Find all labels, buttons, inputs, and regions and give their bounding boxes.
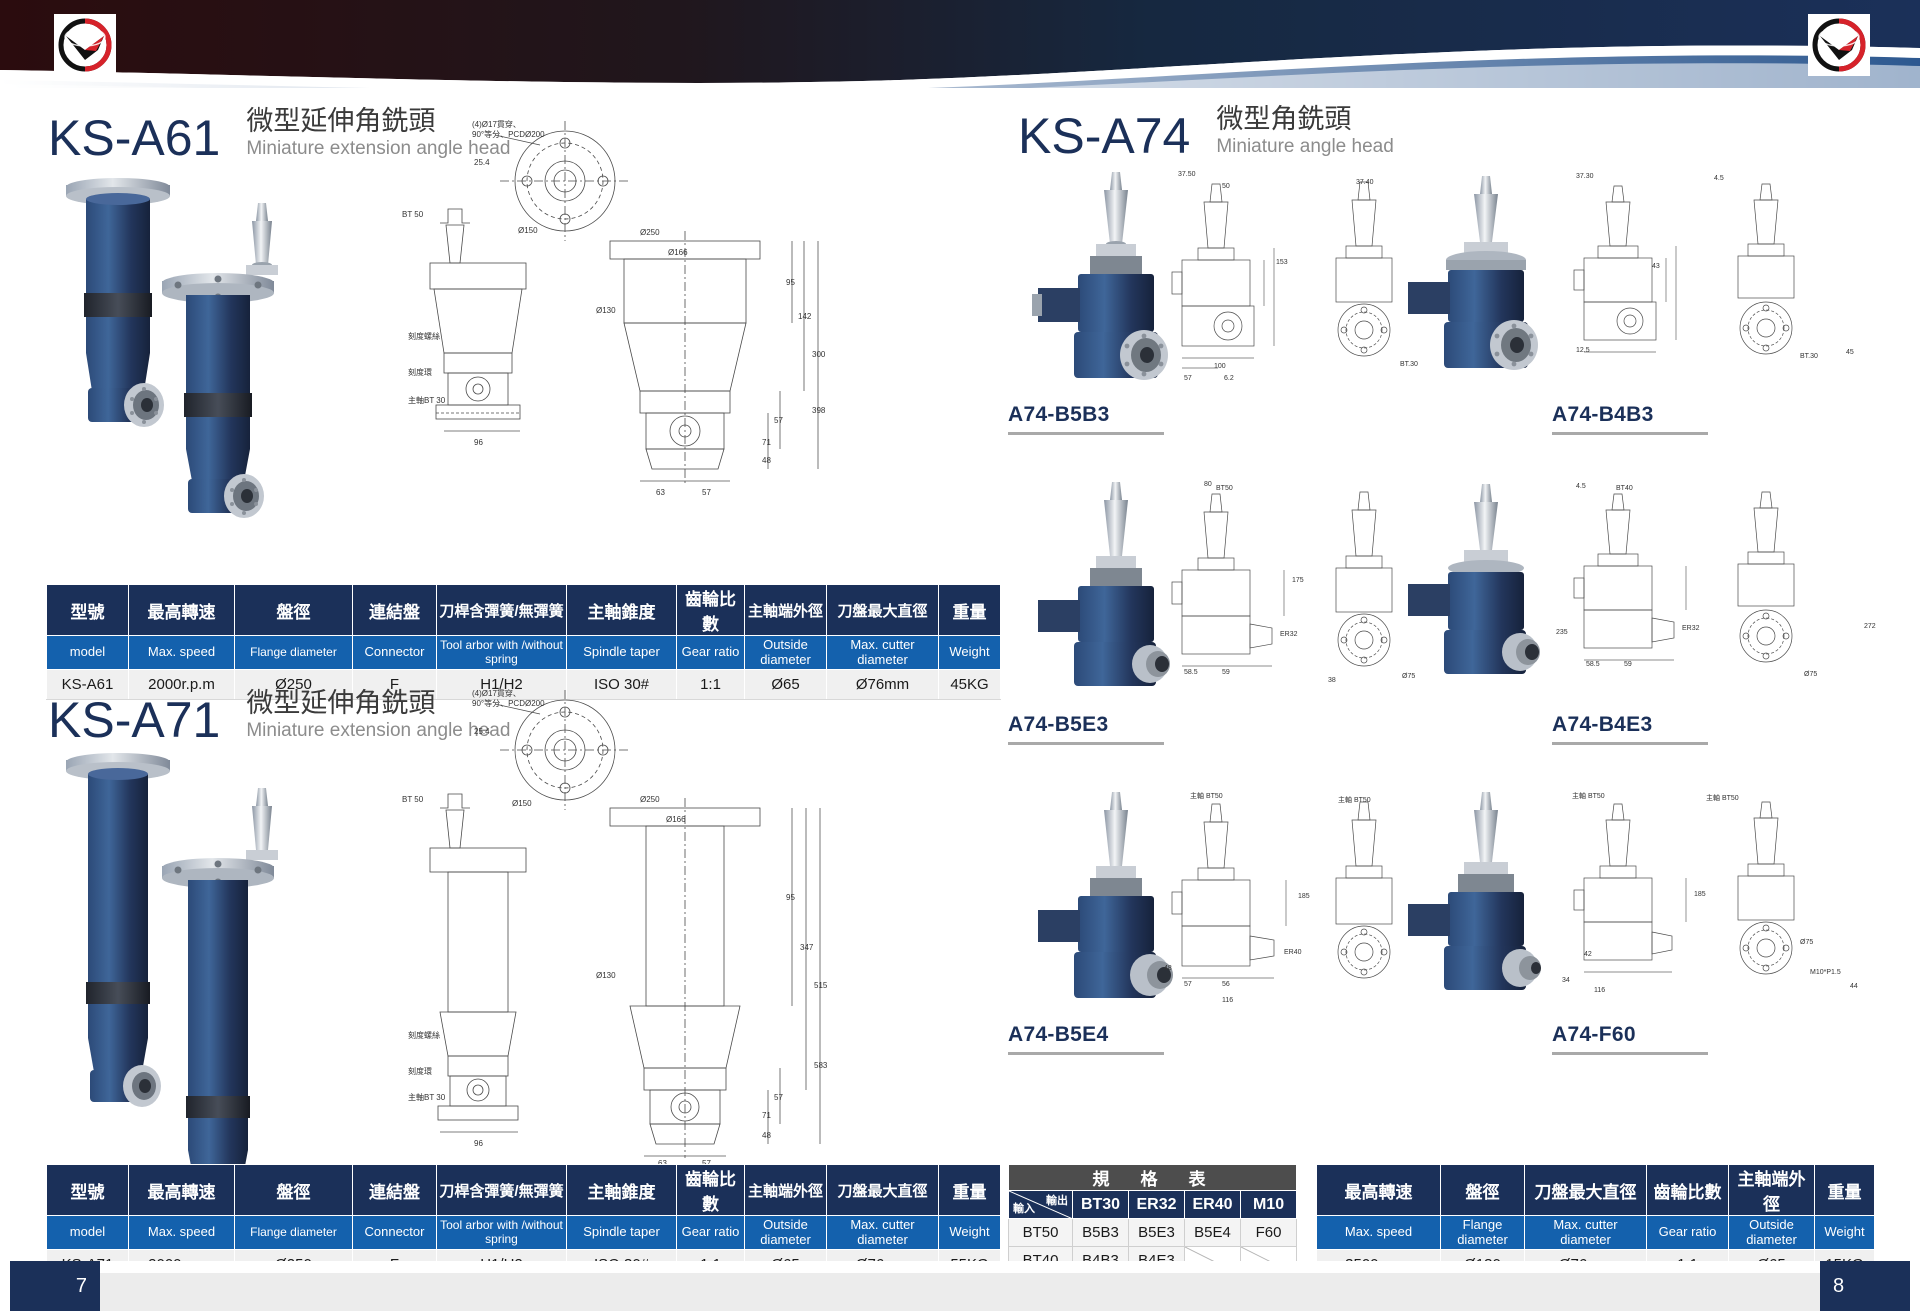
section-title-ks-a74: KS-A74 微型角銑頭 Miniature angle head [1018, 104, 1394, 161]
matrix-col-er40: ER40 [1185, 1191, 1241, 1219]
svg-text:398: 398 [812, 406, 826, 415]
product-photo-ks-a61-pair [40, 173, 380, 523]
product-photo-ks-a71-pair [40, 748, 380, 1218]
svg-text:95: 95 [786, 893, 795, 902]
model-cell-a74-b5e3: 80175 ER3258.5 5938 BT50Ø75 A74-B5E3 [1008, 478, 1428, 745]
model-cell-a74-b5e4: 主軸 BT50185 5756 ER4048 116主軸 BT50 A74-B5… [1008, 788, 1428, 1055]
th-cn-model: 型號 [47, 1165, 129, 1216]
th-cn-gear: 齒輪比數 [677, 585, 745, 636]
svg-text:515: 515 [814, 981, 828, 990]
model-label: A74-B5E4 [1008, 1023, 1108, 1050]
svg-text:Ø75: Ø75 [1804, 671, 1817, 678]
model-label: A74-B5E3 [1008, 713, 1108, 740]
th-en-flange: Flange diameter [1441, 1216, 1525, 1250]
svg-text:185: 185 [1694, 891, 1706, 898]
svg-text:37.30: 37.30 [1576, 173, 1594, 180]
svg-text:25.4: 25.4 [474, 158, 490, 167]
model-cell-a74-b4e3: 4.5BT40 ER3258.5 59235 Ø75272 A74-B4E3 [1380, 478, 1880, 745]
model-underline [1552, 432, 1708, 435]
svg-text:57: 57 [1184, 375, 1192, 382]
svg-text:185: 185 [1298, 893, 1310, 900]
technical-drawing-ks-a61: (4)Ø17貫穿、 90°等分、PCDØ200 25.4 BT 50 Ø150 … [400, 113, 920, 513]
th-en-arbor: Tool arbor with /without spring [437, 1216, 567, 1250]
th-cn-cutter: 刀盤最大直徑 [827, 1165, 939, 1216]
th-cn-speed: 最高轉速 [1317, 1165, 1441, 1216]
matrix-col-m10: M10 [1241, 1191, 1297, 1219]
svg-text:主軸 BT50: 主軸 BT50 [1338, 795, 1371, 804]
page-number-left: 7 [10, 1261, 100, 1311]
model-label-wrap-a74-b5b3: A74-B5B3 [1008, 403, 1164, 435]
svg-text:34: 34 [1562, 977, 1570, 984]
svg-text:59: 59 [1222, 669, 1230, 676]
th-cn-weight: 重量 [1815, 1165, 1875, 1216]
model-label-wrap-a74-b4b3: A74-B4B3 [1552, 403, 1708, 435]
right-page: KS-A74 微型角銑頭 Miniature angle head [960, 88, 1920, 1248]
model-cell-a74-f60: 主軸 BT50185 4234 主軸 BT50Ø75 M10*P1.544 11… [1380, 788, 1880, 1055]
th-cn-outside: 主軸端外徑 [745, 1165, 827, 1216]
company-logo-icon [58, 18, 112, 72]
table-header-cn-row: 型號 最高轉速 盤徑 連結盤 刀桿含彈簧/無彈簧 主軸錐度 齒輪比數 主軸端外徑… [47, 585, 1001, 636]
svg-text:153: 153 [1276, 259, 1288, 266]
svg-text:63: 63 [656, 488, 665, 497]
svg-text:58.5: 58.5 [1184, 669, 1198, 676]
table-header-en-row: model Max. speed Flange diameter Connect… [47, 636, 1001, 670]
svg-text:57: 57 [774, 416, 783, 425]
model-label: A74-B4B3 [1552, 403, 1654, 430]
model-label: A74-B4E3 [1552, 713, 1652, 740]
footer-bar [0, 1261, 1920, 1311]
th-en-model: model [47, 1216, 129, 1250]
svg-text:Ø130: Ø130 [596, 306, 616, 315]
th-en-gear: Gear ratio [677, 636, 745, 670]
svg-text:刻度螺絲: 刻度螺絲 [408, 1030, 440, 1040]
model-cell-a74-b5b3: 37.5050 153100 576.2 37.40BT.30 A74-B5B3 [1008, 168, 1428, 435]
svg-text:Ø150: Ø150 [518, 226, 538, 235]
section-code: KS-A74 [1018, 111, 1190, 161]
matrix-table-spec: 規 格 表 輸入 輸出 BT30 ER32 ER40 M10 BT50 B5B3… [1008, 1164, 1297, 1275]
th-cn-taper: 主軸錐度 [567, 585, 677, 636]
spec-table-ks-a61: 型號 最高轉速 盤徑 連結盤 刀桿含彈簧/無彈簧 主軸錐度 齒輪比數 主軸端外徑… [46, 584, 1001, 700]
product-photo-a74-f60: 主軸 BT50185 4234 主軸 BT50Ø75 M10*P1.544 11… [1380, 788, 1880, 1018]
th-en-gear: Gear ratio [1647, 1216, 1729, 1250]
catalog-page-spread: KS-A61 微型延伸角銑頭 Miniature extension angle… [0, 0, 1920, 1311]
svg-text:Ø130: Ø130 [596, 971, 616, 980]
svg-text:300: 300 [812, 350, 826, 359]
th-en-cutter: Max. cutter diameter [827, 1216, 939, 1250]
footer-grey-band [100, 1273, 1820, 1311]
th-cn-speed: 最高轉速 [129, 585, 235, 636]
model-underline [1008, 432, 1164, 435]
svg-text:59: 59 [1624, 661, 1632, 668]
company-logo-icon [1812, 18, 1866, 72]
svg-text:M10*P1.5: M10*P1.5 [1810, 969, 1841, 976]
svg-text:48: 48 [1164, 965, 1172, 972]
svg-text:71: 71 [762, 438, 771, 447]
model-label-wrap-a74-f60: A74-F60 [1552, 1023, 1708, 1055]
svg-text:71: 71 [762, 1111, 771, 1120]
model-label-wrap-a74-b5e4: A74-B5E4 [1008, 1023, 1164, 1055]
svg-text:37.50: 37.50 [1178, 171, 1196, 178]
th-cn-arbor: 刀桿含彈簧/無彈簧 [437, 1165, 567, 1216]
table-header-cn-row: 最高轉速 盤徑 刀盤最大直徑 齒輪比數 主軸端外徑 重量 [1317, 1165, 1875, 1216]
svg-text:(4)Ø17貫穿、: (4)Ø17貫穿、 [472, 688, 521, 698]
model-underline [1552, 742, 1708, 745]
svg-text:43: 43 [1652, 263, 1660, 270]
matrix-title-row: 規 格 表 [1009, 1165, 1297, 1191]
section-name-cn: 微型角銑頭 [1216, 104, 1393, 135]
th-cn-connector: 連結盤 [353, 1165, 437, 1216]
model-label: A74-B5B3 [1008, 403, 1110, 430]
matrix-cell: F60 [1241, 1219, 1297, 1247]
th-cn-flange: 盤徑 [235, 1165, 353, 1216]
th-en-flange: Flange diameter [235, 636, 353, 670]
th-en-gear: Gear ratio [677, 1216, 745, 1250]
svg-text:BT50: BT50 [1216, 485, 1233, 492]
matrix-cell: B5E4 [1185, 1219, 1241, 1247]
matrix-cell: B5B3 [1073, 1219, 1129, 1247]
svg-text:4.5: 4.5 [1576, 483, 1586, 490]
svg-text:100: 100 [1214, 363, 1226, 370]
th-en-model: model [47, 636, 129, 670]
th-en-outside: Outside diameter [745, 1216, 827, 1250]
matrix-axis-out-label: 輸出 [1046, 1192, 1068, 1208]
matrix-col-er32: ER32 [1129, 1191, 1185, 1219]
th-cn-cutter: 刀盤最大直徑 [827, 585, 939, 636]
table-header-en-row: model Max. speed Flange diameter Connect… [47, 1216, 1001, 1250]
svg-text:95: 95 [786, 278, 795, 287]
th-cn-gear: 齒輪比數 [677, 1165, 745, 1216]
svg-text:235: 235 [1556, 629, 1568, 636]
svg-text:主軸BT 30: 主軸BT 30 [408, 1092, 446, 1102]
model-label-wrap-a74-b5e3: A74-B5E3 [1008, 713, 1164, 745]
svg-text:12.5: 12.5 [1576, 347, 1590, 354]
svg-text:347: 347 [800, 943, 814, 952]
table-header-en-row: Max. speed Flange diameter Max. cutter d… [1317, 1216, 1875, 1250]
th-en-taper: Spindle taper [567, 636, 677, 670]
model-underline [1008, 742, 1164, 745]
svg-text:96: 96 [474, 1139, 483, 1148]
product-photo-a74-b5b3: 37.5050 153100 576.2 37.40BT.30 [1008, 168, 1428, 398]
matrix-row-head: BT50 [1009, 1219, 1073, 1247]
svg-text:42: 42 [1584, 951, 1592, 958]
svg-text:4.5: 4.5 [1714, 175, 1724, 182]
svg-text:37.40: 37.40 [1356, 179, 1374, 186]
th-cn-connector: 連結盤 [353, 585, 437, 636]
svg-text:(4)Ø17貫穿、: (4)Ø17貫穿、 [472, 119, 521, 129]
company-logo-left [54, 14, 116, 76]
model-underline [1552, 1052, 1708, 1055]
th-en-cutter: Max. cutter diameter [1525, 1216, 1647, 1250]
th-cn-flange: 盤徑 [235, 585, 353, 636]
table-header-cn-row: 型號 最高轉速 盤徑 連結盤 刀桿含彈簧/無彈簧 主軸錐度 齒輪比數 主軸端外徑… [47, 1165, 1001, 1216]
section-code: KS-A61 [48, 113, 220, 163]
matrix-axis-corner: 輸入 輸出 [1009, 1191, 1073, 1219]
technical-drawing-ks-a71: (4)Ø17貫穿、 90°等分、PCDØ200 25.4 BT 50 Ø150 … [400, 688, 920, 1168]
th-cn-outside: 主軸端外徑 [745, 585, 827, 636]
model-label: A74-F60 [1552, 1023, 1636, 1050]
svg-text:175: 175 [1292, 577, 1304, 584]
matrix-col-bt30: BT30 [1073, 1191, 1129, 1219]
product-photo-a74-b5e4: 主軸 BT50185 5756 ER4048 116主軸 BT50 [1008, 788, 1428, 1018]
svg-text:142: 142 [798, 312, 812, 321]
matrix-header-row: 輸入 輸出 BT30 ER32 ER40 M10 [1009, 1191, 1297, 1219]
th-en-speed: Max. speed [1317, 1216, 1441, 1250]
svg-text:38: 38 [1328, 677, 1336, 684]
svg-text:主軸 BT50: 主軸 BT50 [1190, 791, 1223, 800]
svg-text:50: 50 [1222, 183, 1230, 190]
th-en-weight: Weight [1815, 1216, 1875, 1250]
svg-text:272: 272 [1864, 623, 1876, 630]
th-cn-flange: 盤徑 [1441, 1165, 1525, 1216]
th-cn-taper: 主軸錐度 [567, 1165, 677, 1216]
matrix-row-bt50: BT50 B5B3 B5E3 B5E4 F60 [1009, 1219, 1297, 1247]
svg-text:刻度環: 刻度環 [408, 367, 432, 377]
svg-text:Ø150: Ø150 [512, 799, 532, 808]
svg-text:58.5: 58.5 [1586, 661, 1600, 668]
svg-text:BT 50: BT 50 [402, 795, 424, 804]
model-label-wrap-a74-b4e3: A74-B4E3 [1552, 713, 1708, 745]
model-cell-a74-b4b3: 37.3043 12.54.5 BT.3045 A74-B4B3 [1380, 168, 1880, 435]
svg-text:Ø250: Ø250 [640, 228, 660, 237]
svg-text:116: 116 [1222, 997, 1233, 1004]
th-cn-arbor: 刀桿含彈簧/無彈簧 [437, 585, 567, 636]
svg-text:BT 50: BT 50 [402, 210, 424, 219]
th-en-speed: Max. speed [129, 636, 235, 670]
company-logo-right [1808, 14, 1870, 76]
th-en-connector: Connector [353, 1216, 437, 1250]
svg-text:主軸 BT50: 主軸 BT50 [1706, 793, 1739, 802]
svg-text:Ø75: Ø75 [1800, 939, 1813, 946]
th-en-outside: Outside diameter [745, 636, 827, 670]
th-cn-outside: 主軸端外徑 [1729, 1165, 1815, 1216]
section-code: KS-A71 [48, 695, 220, 745]
svg-text:Ø250: Ø250 [640, 795, 660, 804]
th-en-speed: Max. speed [129, 1216, 235, 1250]
th-en-arbor: Tool arbor with /without spring [437, 636, 567, 670]
th-en-flange: Flange diameter [235, 1216, 353, 1250]
th-cn-speed: 最高轉速 [129, 1165, 235, 1216]
svg-text:90°等分、PCDØ200: 90°等分、PCDØ200 [472, 698, 545, 708]
svg-text:BT40: BT40 [1616, 485, 1633, 492]
svg-text:Ø166: Ø166 [668, 248, 688, 257]
th-cn-cutter: 刀盤最大直徑 [1525, 1165, 1647, 1216]
svg-text:56: 56 [1222, 981, 1230, 988]
matrix-axis-in-label: 輸入 [1013, 1200, 1035, 1216]
svg-text:刻度螺絲: 刻度螺絲 [408, 331, 440, 341]
section-name-en: Miniature angle head [1216, 136, 1393, 159]
svg-text:ER40: ER40 [1284, 949, 1302, 956]
product-photo-a74-b4e3: 4.5BT40 ER3258.5 59235 Ø75272 [1380, 478, 1880, 708]
svg-text:116: 116 [1594, 987, 1605, 994]
th-en-outside: Outside diameter [1729, 1216, 1815, 1250]
top-banner [0, 0, 1920, 88]
model-underline [1008, 1052, 1164, 1055]
svg-text:ER32: ER32 [1280, 631, 1298, 638]
th-en-taper: Spindle taper [567, 1216, 677, 1250]
svg-text:刻度環: 刻度環 [408, 1066, 432, 1076]
svg-text:Ø166: Ø166 [666, 815, 686, 824]
page-number-right: 8 [1820, 1261, 1910, 1311]
th-cn-gear: 齒輪比數 [1647, 1165, 1729, 1216]
svg-text:96: 96 [474, 438, 483, 447]
svg-text:BT.30: BT.30 [1800, 353, 1818, 360]
th-cn-model: 型號 [47, 585, 129, 636]
svg-text:57: 57 [1184, 981, 1192, 988]
svg-text:57: 57 [774, 1093, 783, 1102]
matrix-title: 規 格 表 [1009, 1165, 1297, 1191]
svg-text:25.4: 25.4 [474, 727, 490, 736]
left-page: KS-A61 微型延伸角銑頭 Miniature extension angle… [0, 88, 960, 1248]
svg-text:ER32: ER32 [1682, 625, 1700, 632]
svg-text:90°等分、PCDØ200: 90°等分、PCDØ200 [472, 129, 545, 139]
svg-text:48: 48 [762, 1131, 771, 1140]
svg-text:583: 583 [814, 1061, 828, 1070]
svg-text:80: 80 [1204, 481, 1212, 488]
svg-text:6.2: 6.2 [1224, 375, 1234, 382]
th-en-connector: Connector [353, 636, 437, 670]
svg-text:45: 45 [1846, 349, 1854, 356]
svg-text:主軸 BT50: 主軸 BT50 [1572, 791, 1605, 800]
product-photo-a74-b5e3: 80175 ER3258.5 5938 BT50Ø75 [1008, 478, 1428, 708]
matrix-cell: B5E3 [1129, 1219, 1185, 1247]
svg-text:主軸BT 30: 主軸BT 30 [408, 395, 446, 405]
th-en-cutter: Max. cutter diameter [827, 636, 939, 670]
product-photo-a74-b4b3: 37.3043 12.54.5 BT.3045 [1380, 168, 1880, 398]
svg-text:44: 44 [1850, 983, 1858, 990]
svg-text:57: 57 [702, 488, 711, 497]
svg-text:48: 48 [762, 456, 771, 465]
